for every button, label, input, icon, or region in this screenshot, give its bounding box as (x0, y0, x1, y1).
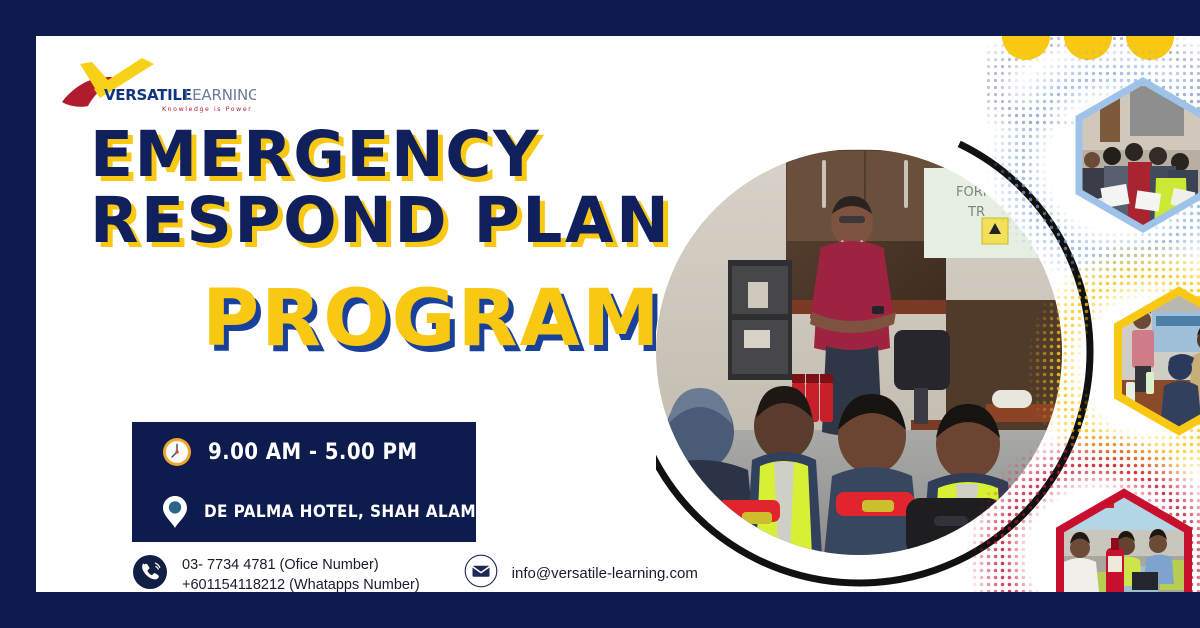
headline-line-1: EMERGENCY (90, 122, 671, 188)
svg-text:LEARNING: LEARNING (184, 86, 256, 104)
headline-block: EMERGENCY RESPOND PLAN PROGRAM (90, 122, 671, 360)
photo-collage: FORK TR (656, 36, 1200, 592)
headline-line-2: RESPOND PLAN (90, 188, 671, 254)
event-details-box: 9.00 AM - 5.00 PM DE PALMA HOTEL, SHAH A… (132, 422, 476, 542)
contact-strip: 03- 7734 4781 (Ofice Number) +6011541182… (132, 554, 698, 592)
banner-root: VERSATILE LEARNING Knowledge is Power VE… (0, 0, 1200, 628)
phone-line-2: +601154118212 (Whatapps Number) (182, 577, 420, 593)
detail-row-time: 9.00 AM - 5.00 PM (132, 422, 476, 482)
svg-text:VERSATILE: VERSATILE (104, 86, 192, 104)
white-card: VERSATILE LEARNING Knowledge is Power VE… (36, 36, 1200, 592)
svg-text:Knowledge is Power: Knowledge is Power (162, 106, 252, 113)
headline-program: PROGRAM (202, 278, 671, 360)
versatile-learning-logo: VERSATILE LEARNING Knowledge is Power VE… (56, 56, 256, 118)
phone-icon (132, 554, 168, 592)
phone-text: 03- 7734 4781 (Ofice Number) +6011541182… (182, 555, 420, 593)
contact-phone[interactable]: 03- 7734 4781 (Ofice Number) +6011541182… (132, 554, 420, 592)
detail-time-label: 9.00 AM - 5.00 PM (208, 440, 417, 465)
detail-row-venue: DE PALMA HOTEL, SHAH ALAM (132, 482, 476, 542)
location-pin-icon (160, 495, 190, 529)
detail-venue-label: DE PALMA HOTEL, SHAH ALAM (204, 502, 476, 522)
clock-icon (160, 437, 194, 467)
envelope-icon (464, 554, 498, 592)
phone-line-1: 03- 7734 4781 (Ofice Number) (182, 557, 379, 573)
hexagon-photo-extinguisher (966, 430, 1200, 592)
